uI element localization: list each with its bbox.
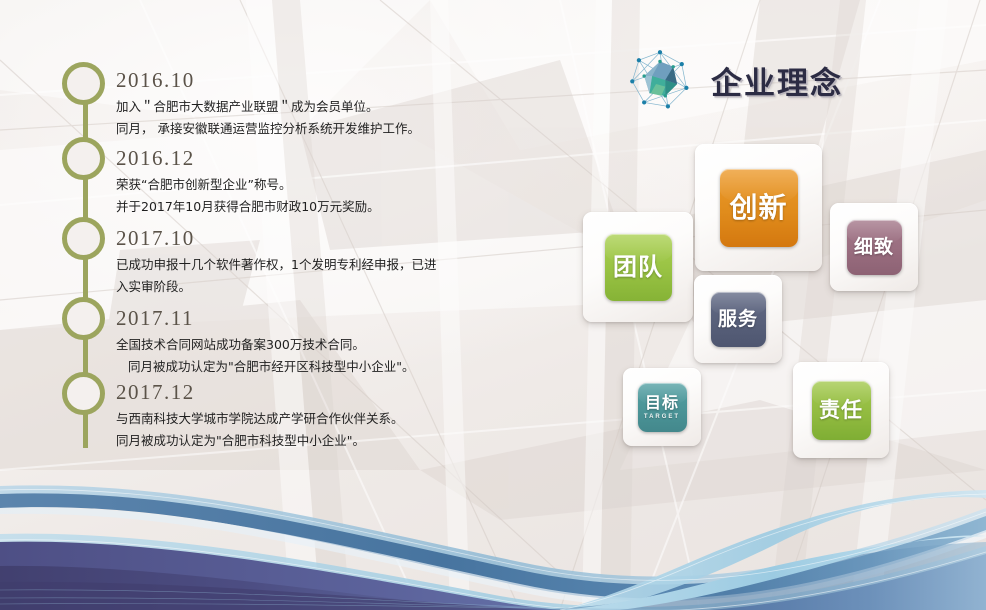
page-title: 企业理念 [711, 58, 843, 103]
timeline-date: 2017.11 [116, 306, 415, 331]
timeline-entry-2: 2016.12 荣获“合肥市创新型企业”称号。 并于2017年10月获得合肥市财… [116, 146, 380, 213]
timeline-date: 2016.10 [116, 68, 420, 93]
concept-card-mubiao[interactable]: 目标 TARGET [623, 368, 701, 446]
timeline-text-line: 入实审阶段。 [116, 280, 436, 293]
timeline-node-4[interactable] [62, 297, 105, 340]
concept-tile: 团队 [605, 234, 672, 301]
section-header: 企业理念 [627, 47, 843, 113]
concept-label: 目标 [645, 395, 679, 411]
timeline-text-line: 全国技术合同网站成功备案300万技术合同。 [116, 338, 415, 351]
timeline-date: 2016.12 [116, 146, 380, 171]
concept-card-fuwu[interactable]: 服务 [694, 275, 782, 363]
timeline-node-1[interactable] [62, 62, 105, 105]
concept-card-tuandui[interactable]: 团队 [583, 212, 693, 322]
timeline-rail [62, 50, 112, 450]
concept-tile: 创新 [720, 169, 798, 247]
concept-card-zeren[interactable]: 责任 [793, 362, 889, 458]
concept-label: 团队 [613, 255, 663, 279]
timeline-text-line: 同月， 承接安徽联通运营监控分析系统开发维护工作。 [116, 122, 420, 135]
concept-label: 细致 [854, 238, 894, 257]
concept-tile: 细致 [847, 220, 902, 275]
timeline-node-5[interactable] [62, 372, 105, 415]
timeline-text-line: 并于2017年10月获得合肥市财政10万元奖励。 [116, 200, 380, 213]
concept-tile: 目标 TARGET [638, 383, 687, 432]
timeline-text-line: 荣获“合肥市创新型企业”称号。 [116, 178, 380, 191]
concept-label: 服务 [718, 310, 758, 329]
timeline-entry-body: 荣获“合肥市创新型企业”称号。 并于2017年10月获得合肥市财政10万元奖励。 [116, 178, 380, 213]
timeline-date: 2017.12 [116, 380, 404, 405]
concept-tile: 责任 [812, 381, 871, 440]
polyhedron-network-logo-icon [627, 47, 693, 113]
concept-sublabel: TARGET [644, 414, 680, 420]
timeline-entry-body: 与西南科技大学城市学院达成产学研合作伙伴关系。 同月被成功认定为"合肥市科技型中… [116, 412, 404, 447]
concept-tile: 服务 [711, 292, 766, 347]
timeline-node-3[interactable] [62, 217, 105, 260]
timeline-entry-4: 2017.11 全国技术合同网站成功备案300万技术合同。 同月被成功认定为"合… [116, 306, 415, 373]
timeline-node-2[interactable] [62, 137, 105, 180]
timeline-text-line: 同月被成功认定为"合肥市经开区科技型中小企业"。 [116, 360, 415, 373]
concept-label: 创新 [729, 194, 787, 222]
wave-decoration [0, 450, 986, 610]
concept-label: 责任 [819, 400, 863, 421]
timeline-text-line: 与西南科技大学城市学院达成产学研合作伙伴关系。 [116, 412, 404, 425]
timeline-text-line: 已成功申报十几个软件著作权，1个发明专利经申报，已进 [116, 258, 436, 271]
timeline-entry-5: 2017.12 与西南科技大学城市学院达成产学研合作伙伴关系。 同月被成功认定为… [116, 380, 404, 447]
timeline-date: 2017.10 [116, 226, 436, 251]
timeline-entry-1: 2016.10 加入＂合肥市大数据产业联盟＂成为会员单位。 同月， 承接安徽联通… [116, 68, 420, 135]
timeline-text-line: 加入＂合肥市大数据产业联盟＂成为会员单位。 [116, 100, 420, 113]
concept-card-xizhi[interactable]: 细致 [830, 203, 918, 291]
timeline-entry-body: 已成功申报十几个软件著作权，1个发明专利经申报，已进 入实审阶段。 [116, 258, 436, 293]
concept-card-chuangxin[interactable]: 创新 [695, 144, 822, 271]
timeline-text-line: 同月被成功认定为"合肥市科技型中小企业"。 [116, 434, 404, 447]
timeline-entry-3: 2017.10 已成功申报十几个软件著作权，1个发明专利经申报，已进 入实审阶段… [116, 226, 436, 293]
slide-canvas: 2016.10 加入＂合肥市大数据产业联盟＂成为会员单位。 同月， 承接安徽联通… [0, 0, 986, 610]
timeline-entry-body: 全国技术合同网站成功备案300万技术合同。 同月被成功认定为"合肥市经开区科技型… [116, 338, 415, 373]
timeline-entry-body: 加入＂合肥市大数据产业联盟＂成为会员单位。 同月， 承接安徽联通运营监控分析系统… [116, 100, 420, 135]
